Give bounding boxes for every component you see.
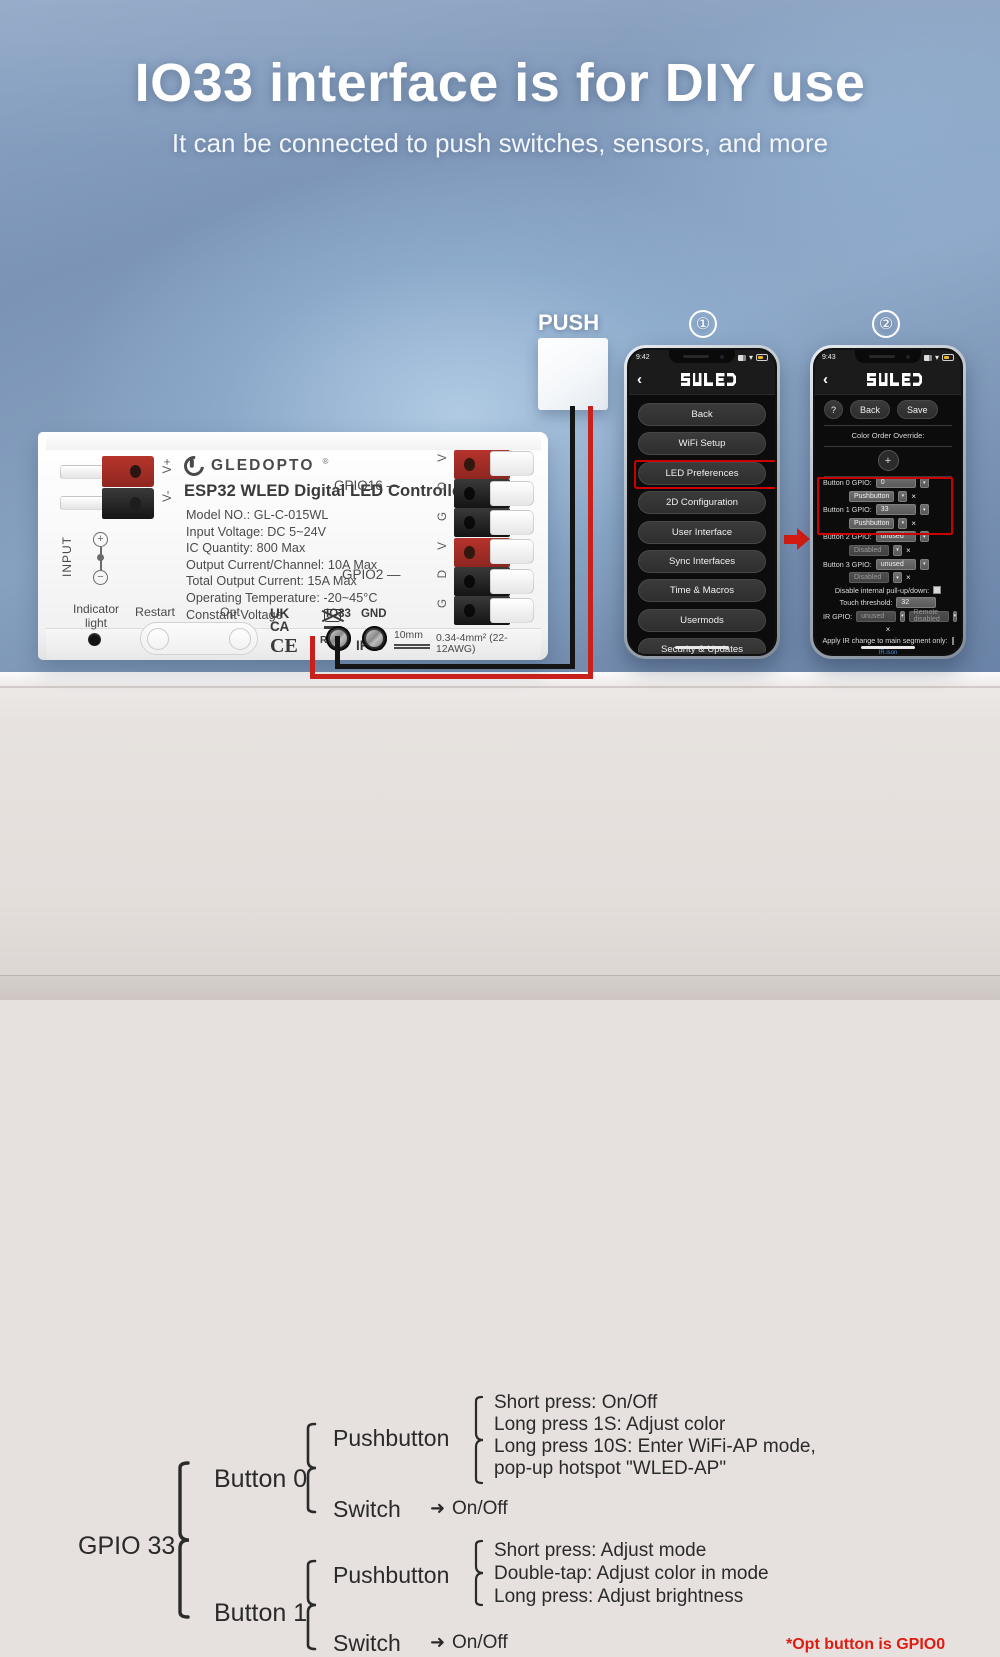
step-marker-two: ② <box>872 310 900 338</box>
speaker-icon <box>869 355 895 358</box>
wire-black-horizontal <box>335 664 575 669</box>
terminal-letter: G <box>436 599 449 608</box>
wire-awg-label: 0.34-4mm² (22-12AWG) <box>436 633 542 655</box>
wifi-icon: ▾ <box>935 354 939 362</box>
switch-0-action: On/Off <box>452 1498 508 1520</box>
polarity-icon: + − <box>90 532 112 588</box>
menu-item-back[interactable]: Back <box>638 403 766 426</box>
tree-root-label: GPIO 33 <box>78 1532 175 1561</box>
gpio16-label: GPIO16 — <box>334 478 400 493</box>
terminal-letter: G <box>436 512 449 521</box>
chevron-down-icon[interactable]: ▾ <box>953 611 958 622</box>
restart-label: Restart <box>135 605 175 619</box>
chevron-down-icon[interactable]: ▾ <box>920 504 929 515</box>
page-subtitle: It can be connected to push switches, se… <box>0 128 1000 159</box>
home-indicator <box>861 646 915 649</box>
infographic-stage: IO33 interface is for DIY use It can be … <box>0 0 1000 1000</box>
opt-button-note: *Opt button is GPIO0 <box>786 1636 945 1654</box>
status-time: 9:43 <box>822 354 836 361</box>
spec-item: Input Voltage: DC 5~24V <box>186 524 378 541</box>
ir-remote-select[interactable]: Remote disabled <box>909 611 949 622</box>
pullup-label: Disable internal pull-up/down: <box>835 586 929 595</box>
output-lever[interactable] <box>490 598 534 623</box>
chevron-down-icon[interactable]: ▾ <box>920 559 929 570</box>
ce-icon: CE <box>270 636 298 656</box>
phone-notch <box>855 350 921 363</box>
back-button[interactable]: Back <box>850 400 890 419</box>
input-terminal-positive <box>102 456 154 487</box>
button-2-gpio-label: Button 2 GPIO: <box>823 532 872 541</box>
button-1-type-select[interactable]: Pushbutton <box>849 518 894 529</box>
chevron-down-icon[interactable]: ▾ <box>920 531 929 542</box>
chevron-down-icon[interactable]: ▾ <box>893 572 902 583</box>
terminal-letter: V <box>436 454 449 462</box>
chevron-down-icon[interactable]: ▾ <box>898 518 907 529</box>
push-switch-plate[interactable] <box>538 338 608 410</box>
terminal-letter: V <box>436 542 449 550</box>
terminal-letter: D <box>436 482 449 490</box>
ir-gpio-row: IR GPIO: unused ▾ Remote disabled ▾ <box>823 611 953 622</box>
opt-button[interactable] <box>229 628 251 650</box>
switch-1-action: On/Off <box>452 1632 508 1654</box>
ir-gpio-select[interactable]: unused <box>856 611 896 622</box>
button-2-remove-icon[interactable]: × <box>906 546 911 555</box>
ir-apply-label: Apply IR change to main segment only: <box>822 636 947 645</box>
input-label: INPUT <box>60 536 74 577</box>
spec-item: Model NO.: GL-C-015WL <box>186 507 378 524</box>
tree-switch-0-label: Switch <box>333 1496 401 1523</box>
button-2-gpio-input[interactable]: unused <box>876 531 916 542</box>
phone-one-screen: 9:42 ▾ ‹ Back WiFi Setup <box>627 348 777 656</box>
color-order-override-label: Color Order Override: <box>815 426 961 444</box>
menu-item-wifi-setup[interactable]: WiFi Setup <box>638 432 766 455</box>
ir-json-hint: IR.json <box>815 648 961 656</box>
signal-icon <box>924 355 932 361</box>
button-1-gpio-label: Button 1 GPIO: <box>823 505 872 514</box>
touch-threshold-input[interactable]: 32 <box>896 597 936 608</box>
help-button[interactable]: ? <box>824 400 843 419</box>
status-icons: ▾ <box>924 354 954 362</box>
button-0-gpio-label: Button 0 GPIO: <box>823 478 872 487</box>
app-header: ‹ <box>815 365 961 395</box>
back-chevron-icon[interactable]: ‹ <box>637 372 642 387</box>
phone-notch <box>669 350 735 363</box>
wifi-icon: ▾ <box>749 354 753 362</box>
button-0-remove-icon[interactable]: × <box>911 492 916 501</box>
button-2-type-select[interactable]: Disabled <box>849 545 889 556</box>
gnd-screw-terminal[interactable] <box>362 626 387 651</box>
step-marker-one: ① <box>689 310 717 338</box>
tree-pushbutton-1-label: Pushbutton <box>333 1562 449 1589</box>
menu-item-user-interface[interactable]: User Interface <box>638 521 766 544</box>
terminal-lever[interactable] <box>60 496 104 510</box>
menu-item-led-preferences[interactable]: LED Preferences <box>638 462 766 485</box>
output-lever[interactable] <box>490 569 534 594</box>
app-header: ‹ <box>629 365 775 395</box>
io33-label: IO33 <box>326 608 351 620</box>
button-2-type-row: Disabled ▾ × <box>823 545 953 556</box>
button-3-gpio-input[interactable]: unused <box>876 559 916 570</box>
button-3-gpio-label: Button 3 GPIO: <box>823 560 872 569</box>
button-1-gpio-input[interactable]: 33 <box>876 504 916 515</box>
settings-menu-list: Back WiFi Setup LED Preferences 2D Confi… <box>629 395 775 656</box>
button-1-remove-icon[interactable]: × <box>911 519 916 528</box>
pushbutton1-brace-icon <box>472 1538 494 1608</box>
gledopto-logo-icon <box>180 452 208 480</box>
headline-block: IO33 interface is for DIY use It can be … <box>0 52 1000 159</box>
brand-logo: GLEDOPTO ® <box>184 456 328 476</box>
battery-icon <box>756 354 768 361</box>
ukca-icon: UK CA <box>270 608 289 633</box>
phone-two: 9:43 ▾ ‹ ? Back <box>810 345 966 659</box>
terminal-lever[interactable] <box>60 465 104 479</box>
wire-gauge-spec: 10mm 0.34-4mm² (22-12AWG) <box>394 630 542 656</box>
button-0-type-select[interactable]: Pushbutton <box>849 491 894 502</box>
tree-switch-1-label: Switch <box>333 1630 401 1657</box>
output-lever[interactable] <box>490 539 534 564</box>
indicator-led <box>88 633 101 646</box>
menu-item-2d-configuration[interactable]: 2D Configuration <box>638 491 766 514</box>
restart-button[interactable] <box>147 628 169 650</box>
chevron-down-icon[interactable]: ▾ <box>898 491 907 502</box>
button-3-gpio-row: Button 3 GPIO: unused ▾ <box>823 559 953 570</box>
tree-pushbutton-0-label: Pushbutton <box>333 1425 449 1452</box>
tree-button1-label: Button 1 <box>214 1599 307 1628</box>
section-divider <box>824 446 952 447</box>
back-chevron-icon[interactable]: ‹ <box>823 372 828 387</box>
push-switch-label: PUSH <box>538 310 599 336</box>
v-minus-label: V- <box>162 490 174 502</box>
strip-length-rule-icon <box>394 644 430 649</box>
signal-icon <box>738 355 746 361</box>
device-body: GLEDOPTO ® ESP32 WLED Digital LED Contro… <box>38 432 548 660</box>
polarity-minus-icon: − <box>93 570 108 585</box>
status-icons: ▾ <box>738 354 768 362</box>
wled-logo-icon <box>650 373 767 386</box>
button-3-type-select[interactable]: Disabled <box>849 572 889 583</box>
button0-action-line: Short press: On/Off <box>494 1392 657 1415</box>
output-lever[interactable] <box>490 451 534 476</box>
brand-name: GLEDOPTO <box>211 457 315 475</box>
registered-mark: ® <box>323 457 329 466</box>
wire-black-riser <box>335 636 340 668</box>
polarity-plus-icon: + <box>93 532 108 547</box>
button1-brace-icon <box>304 1558 330 1652</box>
ir-remove-row: × <box>823 625 953 634</box>
button-0-gpio-input[interactable]: 0 <box>876 477 916 488</box>
phone-two-screen: 9:43 ▾ ‹ ? Back <box>813 348 963 656</box>
button-3-type-row: Disabled ▾ × <box>823 572 953 583</box>
button-2-gpio-row: Button 2 GPIO: unused ▾ <box>823 531 953 542</box>
strip-length-label: 10mm <box>394 630 423 641</box>
touch-threshold-label: Touch threshold: <box>840 598 893 607</box>
battery-icon <box>942 354 954 361</box>
ir-gpio-label: IR GPIO: <box>823 612 852 621</box>
pullup-row: Disable internal pull-up/down: <box>823 586 953 595</box>
pullup-checkbox[interactable] <box>933 586 941 594</box>
spec-item: Operating Temperature: -20~45°C <box>186 590 378 607</box>
io33-gnd-terminals: IO33 GND <box>326 608 396 620</box>
v-plus-label: V+ <box>162 458 174 473</box>
output-lever[interactable] <box>490 510 534 535</box>
wire-red-horizontal <box>310 674 593 679</box>
ir-remove-icon[interactable]: × <box>886 625 891 634</box>
gnd-label: GND <box>361 608 387 620</box>
button-gpio-settings: Button 0 GPIO: 0 ▾ Pushbutton ▾ × Button… <box>815 477 961 645</box>
menu-item-time-macros[interactable]: Time & Macros <box>638 579 766 602</box>
speaker-icon <box>683 355 709 358</box>
switch-1-arrow-icon: ➜ <box>430 1632 445 1653</box>
gpio2-label: GPIO2 — <box>342 567 401 582</box>
floor-divider <box>0 686 1000 688</box>
wire-red-vertical <box>588 406 593 678</box>
camera-icon <box>906 355 911 360</box>
button-1-gpio-row: Button 1 GPIO: 33 ▾ <box>823 504 953 515</box>
ir-apply-checkbox[interactable] <box>952 637 954 645</box>
home-indicator <box>675 646 729 649</box>
terminal-letter: D <box>436 570 449 578</box>
input-terminal-block: V+ V- <box>80 456 154 524</box>
input-terminal-negative <box>102 488 154 519</box>
button-3-remove-icon[interactable]: × <box>906 573 911 582</box>
tree-button0-label: Button 0 <box>214 1465 307 1494</box>
output-terminal-block: GPIO16 — GPIO2 — V D G V D G <box>434 450 544 628</box>
ir-apply-row: Apply IR change to main segment only: <box>823 636 953 645</box>
button-0-type-row: Pushbutton ▾ × <box>823 491 953 502</box>
chevron-down-icon[interactable]: ▾ <box>893 545 902 556</box>
button1-action-line: Short press: Adjust mode <box>494 1540 706 1563</box>
output-lever[interactable] <box>490 481 534 506</box>
wire-black-vertical <box>570 406 575 668</box>
button-housing <box>140 622 258 655</box>
button1-action-line: Double-tap: Adjust color in mode <box>494 1563 769 1586</box>
spec-item: IC Quantity: 800 Max <box>186 540 378 557</box>
wire-red-riser <box>310 636 315 678</box>
terminal-hole-icon <box>130 465 141 478</box>
gpio-behavior-diagram: GPIO 33 Button 0 Button 1 Pushbutton Swi… <box>0 690 1000 1000</box>
led-prefs-toolbar: ? Back Save <box>815 395 961 423</box>
button0-action-line: Long press 1S: Adjust color <box>494 1414 725 1437</box>
button-0-gpio-row: Button 0 GPIO: 0 ▾ <box>823 477 953 488</box>
button0-brace-icon <box>304 1421 330 1515</box>
button1-action-line: Long press: Adjust brightness <box>494 1586 743 1609</box>
button0-action-line: pop-up hotspot "WLED-AP" <box>494 1458 726 1481</box>
device-top-bevel <box>46 432 541 450</box>
chevron-down-icon[interactable]: ▾ <box>900 611 905 622</box>
switch-0-arrow-icon: ➜ <box>430 1498 445 1519</box>
save-button[interactable]: Save <box>897 400 938 419</box>
chevron-down-icon[interactable]: ▾ <box>920 477 929 488</box>
device-model-title: ESP32 WLED Digital LED Controller <box>184 482 468 501</box>
flow-arrow-icon <box>784 528 810 550</box>
phone-one: 9:42 ▾ ‹ Back WiFi Setup <box>624 345 780 659</box>
camera-icon <box>720 355 725 360</box>
root-brace-icon <box>176 1460 206 1620</box>
page-title: IO33 interface is for DIY use <box>0 52 1000 114</box>
opt-label: Opt <box>220 605 240 619</box>
menu-item-sync-interfaces[interactable]: Sync Interfaces <box>638 550 766 573</box>
terminal-hole-icon <box>130 497 141 510</box>
button0-action-line: Long press 10S: Enter WiFi-AP mode, <box>494 1436 816 1459</box>
pushbutton0-brace-icon <box>472 1394 494 1486</box>
indicator-light-label: Indicator light <box>60 602 132 630</box>
button-1-type-row: Pushbutton ▾ × <box>823 518 953 529</box>
led-controller-device: GLEDOPTO ® ESP32 WLED Digital LED Contro… <box>38 432 548 666</box>
menu-item-usermods[interactable]: Usermods <box>638 609 766 632</box>
wled-logo-icon <box>836 373 953 386</box>
add-color-order-button[interactable]: + <box>878 450 899 471</box>
status-time: 9:42 <box>636 354 650 361</box>
touch-threshold-row: Touch threshold: 32 <box>823 597 953 608</box>
